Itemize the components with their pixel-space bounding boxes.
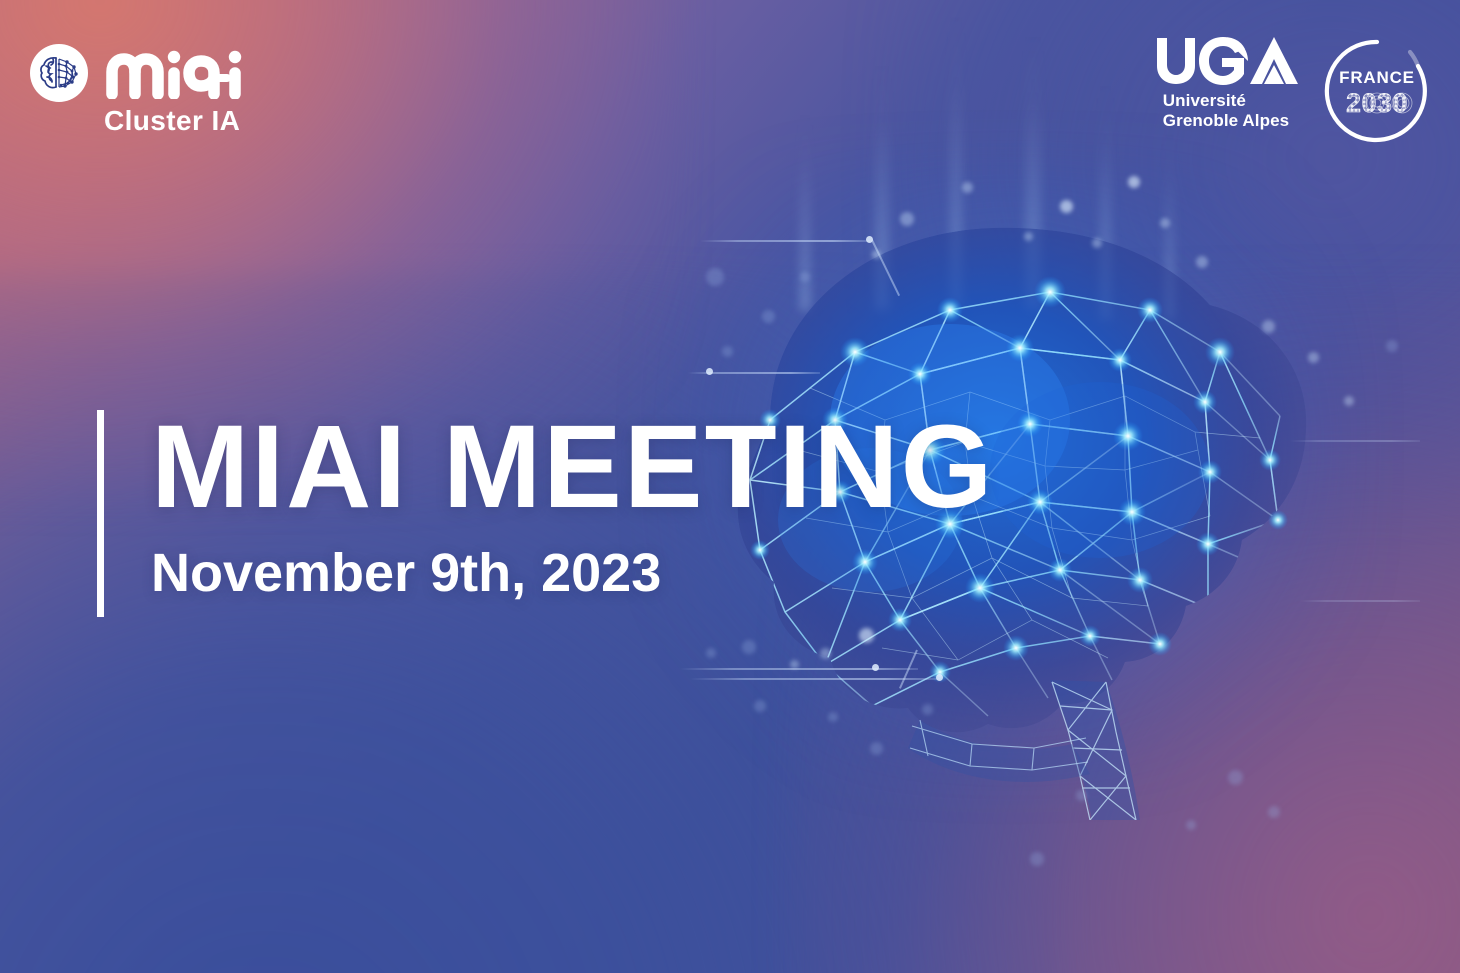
bokeh-dot — [859, 628, 874, 643]
uga-logo[interactable]: Université Grenoble Alpes — [1152, 34, 1300, 130]
bokeh-dot — [828, 712, 838, 722]
bokeh-dot — [1262, 320, 1275, 333]
france-2030-logo[interactable]: FRANCE 2030 — [1322, 36, 1432, 151]
hero-title-block: MIAI MEETING November 9th, 2023 — [97, 410, 994, 617]
bokeh-dot — [790, 660, 799, 669]
bokeh-dot — [1030, 852, 1044, 866]
circuit-trace — [1300, 600, 1420, 602]
circuit-node — [936, 674, 943, 681]
bokeh-dot — [1386, 340, 1398, 352]
bokeh-dot — [870, 742, 883, 755]
brain-network-icon — [36, 50, 82, 96]
miai-tagline: Cluster IA — [104, 104, 276, 138]
bokeh-dot — [742, 640, 756, 654]
miai-tagline-text: Cluster IA — [104, 105, 240, 136]
bokeh-dot — [1128, 176, 1140, 188]
page-title: MIAI MEETING — [151, 410, 994, 524]
uga-line-2: Grenoble Alpes — [1163, 111, 1289, 131]
circuit-node — [872, 664, 879, 671]
france-line-1: FRANCE — [1339, 68, 1415, 87]
bokeh-dot — [922, 704, 933, 715]
title-texts: MIAI MEETING November 9th, 2023 — [151, 410, 994, 617]
bokeh-dot — [900, 212, 914, 226]
bokeh-dot — [1160, 218, 1170, 228]
bokeh-dot — [1186, 820, 1196, 830]
circuit-trace — [680, 668, 918, 670]
circuit-node — [706, 368, 713, 375]
france-2030-circle-icon: FRANCE 2030 — [1322, 36, 1432, 146]
bokeh-dot — [872, 250, 881, 259]
bokeh-dot — [1344, 396, 1354, 406]
france-line-2: 2030 — [1346, 88, 1408, 118]
bokeh-dot — [722, 346, 733, 357]
title-accent-rule — [97, 410, 104, 617]
bokeh-dot — [754, 700, 766, 712]
bokeh-dot — [706, 648, 716, 658]
miai-wordmark — [104, 47, 254, 99]
bokeh-dot — [1024, 232, 1033, 241]
bokeh-dot — [1196, 256, 1208, 268]
bokeh-dot — [762, 310, 775, 323]
bokeh-dot — [962, 182, 973, 193]
partner-logos: Université Grenoble Alpes FRANCE 2030 — [1152, 34, 1432, 151]
bokeh-dot — [820, 648, 831, 659]
miai-logo-row — [30, 44, 254, 102]
bokeh-dot — [1060, 200, 1073, 213]
bokeh-dot — [1228, 770, 1243, 785]
uga-line-1: Université — [1163, 91, 1289, 111]
miai-badge — [30, 44, 88, 102]
circuit-trace — [1290, 440, 1420, 442]
uga-mountain-icon — [1152, 34, 1300, 88]
miai-logo[interactable]: Cluster IA — [30, 44, 276, 138]
bokeh-dot — [800, 272, 810, 282]
poster-canvas: Cluster IA Université Grenoble Alpes — [0, 0, 1460, 973]
bokeh-dot — [1092, 238, 1102, 248]
bokeh-dot — [1076, 790, 1087, 801]
uga-subtitle: Université Grenoble Alpes — [1163, 91, 1289, 130]
bokeh-dot — [1308, 352, 1319, 363]
bokeh-dot — [706, 268, 724, 286]
bokeh-dot — [1268, 806, 1280, 818]
circuit-node — [866, 236, 873, 243]
circuit-trace — [700, 240, 870, 242]
circuit-trace — [690, 678, 940, 680]
event-date: November 9th, 2023 — [151, 546, 994, 600]
